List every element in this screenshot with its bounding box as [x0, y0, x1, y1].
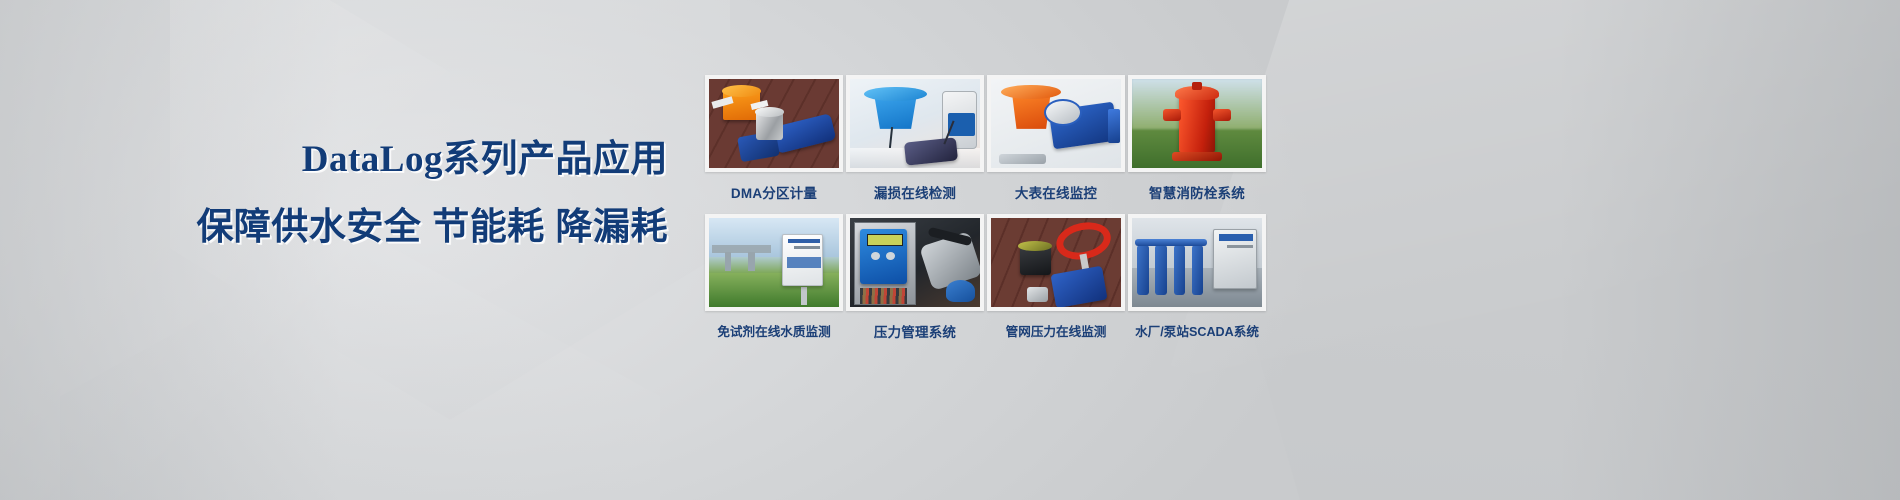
product-card-reagent-free-water-quality[interactable]: 免试剂在线水质监测 — [705, 214, 843, 341]
headline-line-2: 保障供水安全 节能耗 降漏耗 — [0, 207, 690, 248]
scada-system-photo — [1132, 218, 1262, 307]
product-card-leak-online-detection[interactable]: 漏损在线检测 — [846, 75, 984, 202]
product-grid: DMA分区计量 漏损在线检测 大表在线监控 — [705, 75, 1266, 341]
hexagon-shape-left — [0, 0, 450, 500]
pressure-management-system-photo — [850, 218, 980, 307]
product-caption: 漏损在线检测 — [846, 182, 984, 202]
diagonal-highlight-bottom-right — [1217, 0, 1900, 500]
product-thumbnail[interactable] — [705, 75, 843, 172]
product-caption: 智慧消防栓系统 — [1128, 182, 1266, 202]
headline-line-1: DataLog系列产品应用 — [0, 140, 690, 181]
smart-hydrant-system-photo — [1132, 79, 1262, 168]
product-thumbnail[interactable] — [987, 214, 1125, 311]
product-thumbnail[interactable] — [1128, 75, 1266, 172]
product-card-pipe-network-pressure[interactable]: 管网压力在线监测 — [987, 214, 1125, 341]
product-thumbnail[interactable] — [987, 75, 1125, 172]
leak-online-detection-photo — [850, 79, 980, 168]
product-card-dma-zone-metering[interactable]: DMA分区计量 — [705, 75, 843, 202]
product-application-banner: DataLog系列产品应用 保障供水安全 节能耗 降漏耗 DMA分区计量 — [0, 0, 1900, 500]
product-thumbnail[interactable] — [846, 75, 984, 172]
hexagon-shape-bottom — [60, 230, 660, 500]
product-caption: 大表在线监控 — [987, 182, 1125, 202]
banner-headline: DataLog系列产品应用 保障供水安全 节能耗 降漏耗 — [0, 140, 690, 247]
product-thumbnail[interactable] — [1128, 214, 1266, 311]
product-caption: 免试剂在线水质监测 — [705, 321, 843, 340]
product-thumbnail[interactable] — [705, 214, 843, 311]
product-card-scada-system[interactable]: 水厂/泵站SCADA系统 — [1128, 214, 1266, 341]
dma-zone-metering-photo — [709, 79, 839, 168]
product-card-large-meter-monitoring[interactable]: 大表在线监控 — [987, 75, 1125, 202]
large-meter-monitoring-photo — [991, 79, 1121, 168]
pipe-network-pressure-photo — [991, 218, 1121, 307]
product-caption: 管网压力在线监测 — [987, 321, 1125, 340]
diagonal-highlight-top-right — [1170, 0, 1900, 500]
reagent-free-water-quality-photo — [709, 218, 839, 307]
product-caption: 压力管理系统 — [846, 321, 984, 341]
product-caption: 水厂/泵站SCADA系统 — [1128, 321, 1266, 340]
product-card-smart-hydrant-system[interactable]: 智慧消防栓系统 — [1128, 75, 1266, 202]
product-thumbnail[interactable] — [846, 214, 984, 311]
product-caption: DMA分区计量 — [705, 182, 843, 202]
product-card-pressure-management-system[interactable]: 压力管理系统 — [846, 214, 984, 341]
